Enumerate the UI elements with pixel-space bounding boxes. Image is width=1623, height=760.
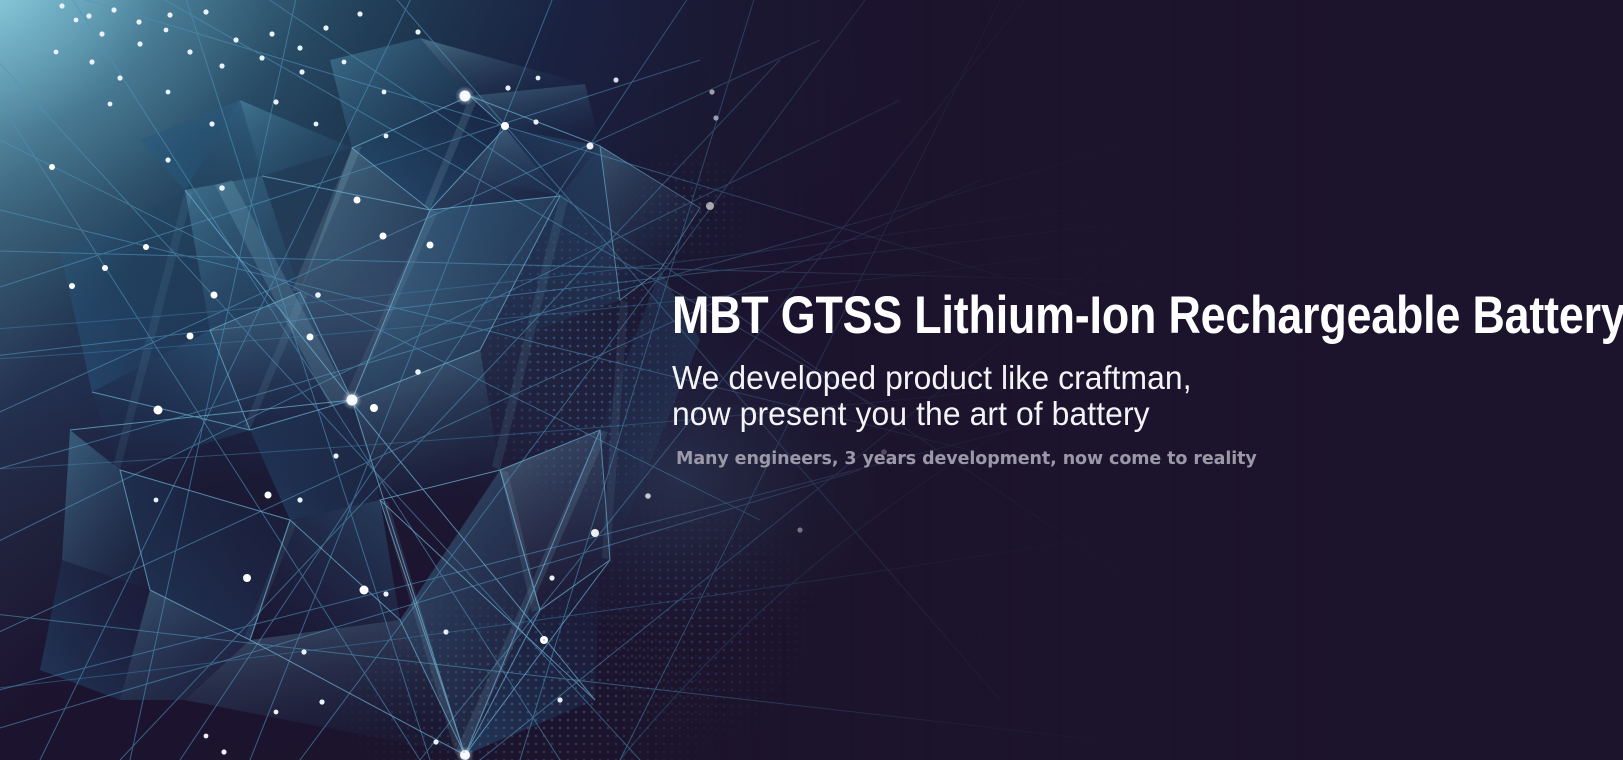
banner-subheading: We developed product like craftman, now … bbox=[672, 360, 1521, 432]
banner-copy: MBT GTSS Lithium-Ion Rechargeable Batter… bbox=[672, 288, 1552, 470]
polygon-facets bbox=[40, 38, 700, 755]
banner-subheading-line-1: We developed product like craftman, bbox=[672, 360, 1521, 396]
halftone-pattern bbox=[600, 120, 780, 300]
banner-subheading-line-2: now present you the art of battery bbox=[672, 396, 1521, 432]
light-shards bbox=[113, 96, 628, 755]
banner-tagline: Many engineers, 3 years development, now… bbox=[676, 448, 1552, 470]
network-edges bbox=[70, 96, 700, 755]
banner-headline: MBT GTSS Lithium-Ion Rechargeable Batter… bbox=[672, 288, 1416, 344]
halftone-pattern bbox=[560, 470, 900, 760]
hero-banner: MBT GTSS Lithium-Ion Rechargeable Batter… bbox=[0, 0, 1623, 760]
halftone-pattern bbox=[300, 540, 820, 760]
